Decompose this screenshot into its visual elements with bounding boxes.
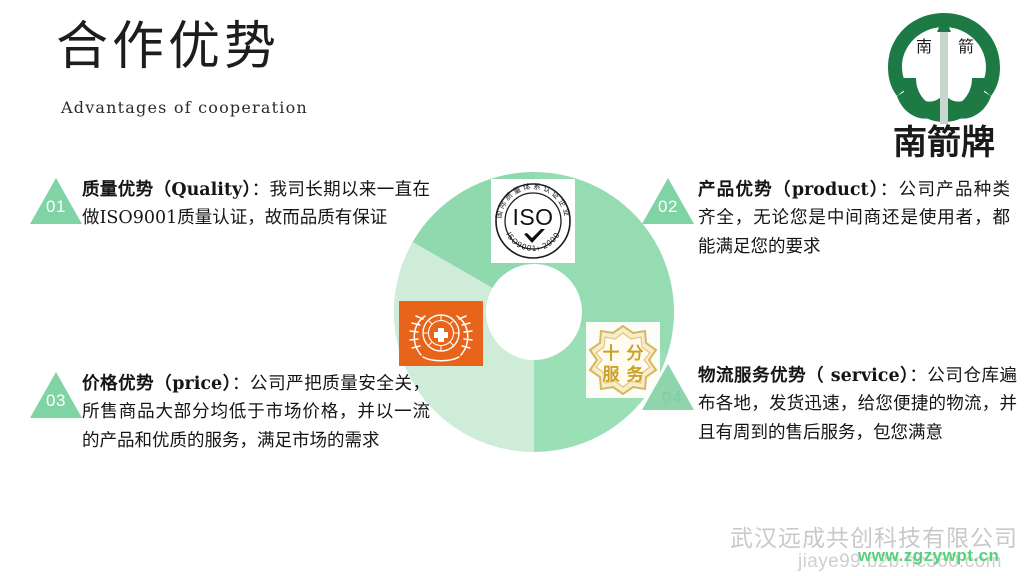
logo-wordmark: 南箭牌 [893,123,995,158]
advantage-heading-01: 质量优势（Quality） [82,180,252,200]
number-badge-04: 04 [642,364,694,410]
advantage-heading-04: 物流服务优势（ service） [698,366,909,386]
number-badge-03: 03 [30,372,82,418]
advantage-heading-02: 产品优势（product） [698,180,880,200]
gold-badge-char-2: 分 [627,344,644,364]
gold-badge-char-3: 服 [603,365,621,385]
iso-center-text: ISO [512,204,553,230]
advantage-item-01[interactable]: 01 质量优势（Quality）：我司长期以来一直在做ISO9001质量认证，故… [30,176,430,233]
advantage-item-03[interactable]: 03 价格优势（price）：公司严把质量安全关，所售商品大部分均低于市场价格，… [30,370,430,455]
advantage-item-04[interactable]: 04 物流服务优势（ service）：公司仓库遍布各地，发货迅速，给您便捷的物… [642,362,1017,447]
advantage-item-02[interactable]: 02 产品优势（product）：公司产品种类齐全，无论您是中间商还是使用者，都… [642,176,1010,261]
number-badge-label: 03 [30,391,82,411]
advantage-text-03: 价格优势（price）：公司严把质量安全关，所售商品大部分均低于市场价格，并以一… [82,370,430,455]
number-badge-01: 01 [30,178,82,224]
slide-root: 合作优势 Advantages of cooperation 南 箭 南箭牌 [0,0,1024,576]
watermark-b2b: jiaye99.b2b.hc360.com [798,551,1002,573]
advantage-heading-03: 价格优势（price） [82,374,232,394]
logo-emblem-char-left: 南 [916,37,932,56]
iso-badge-svg: 国际质量体系认证企业 ISO9001: 2000 ISO [491,179,575,263]
page-title: 合作优势 [56,18,308,76]
advantage-text-02: 产品优势（product）：公司产品种类齐全，无论您是中间商还是使用者，都能满足… [698,176,1010,261]
wreath-badge-svg [399,301,483,366]
logo-emblem-char-right: 箭 [958,37,974,56]
number-badge-02: 02 [642,178,694,224]
logo-arrow-shaft [940,28,948,124]
number-badge-label: 01 [30,197,82,217]
watermark-company: 武汉远成共创科技有限公司 [730,519,1018,553]
page-subtitle: Advantages of cooperation [61,98,308,117]
title-block: 合作优势 Advantages of cooperation [56,18,308,117]
advantage-text-04: 物流服务优势（ service）：公司仓库遍布各地，发货迅速，给您便捷的物流，并… [698,362,1017,447]
logo-svg: 南 箭 南箭牌 [878,4,1010,158]
donut-hole [486,264,582,360]
number-badge-label: 04 [646,388,698,408]
gold-badge-char-1: 十 [603,343,620,364]
iso-certification-badge: 国际质量体系认证企业 ISO9001: 2000 ISO [491,179,575,263]
watermark-site: www.zgzywpt.cn [858,546,999,566]
company-logo: 南 箭 南箭牌 [878,4,1010,158]
advantage-text-01: 质量优势（Quality）：我司长期以来一直在做ISO9001质量认证，故而品质… [82,176,430,233]
number-badge-label: 02 [642,197,694,217]
award-wreath-badge [399,301,483,366]
